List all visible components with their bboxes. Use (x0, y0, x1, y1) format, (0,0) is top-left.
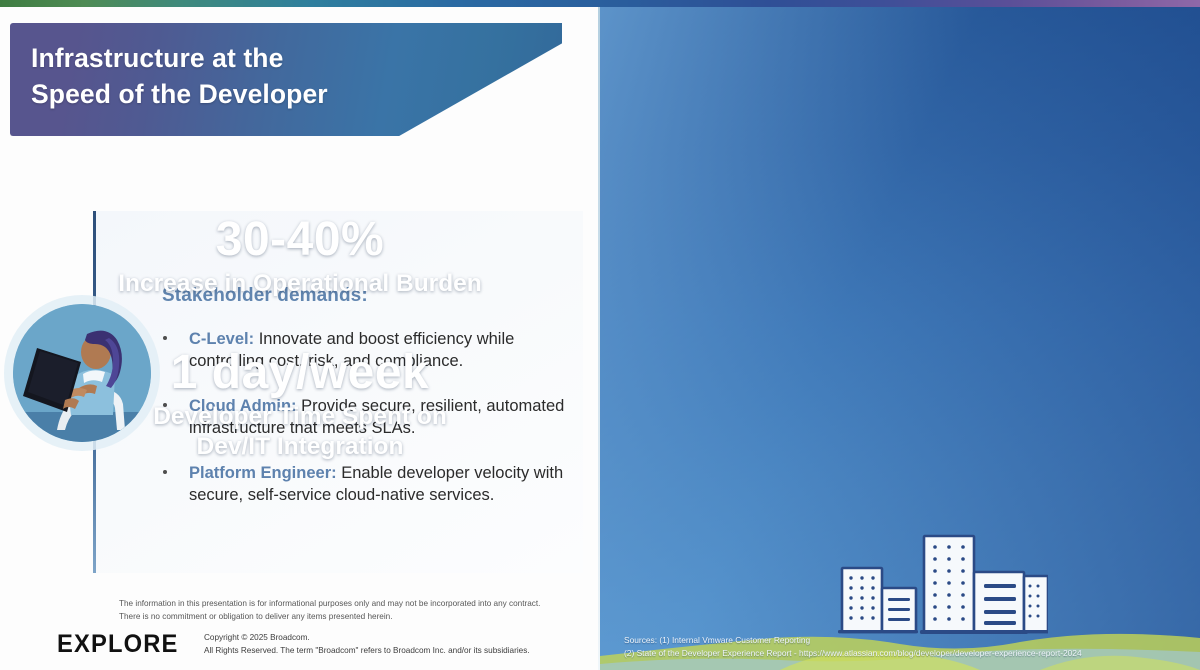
stat-operational-burden: 30-40% Increase in Operational Burden (0, 215, 600, 299)
top-gradient-strip (0, 0, 1200, 7)
bullet-dot-icon (163, 336, 167, 340)
stat-developer-time: 1 day/week Developer Time Spent on Dev/I… (0, 348, 600, 461)
bullet-role-label: Platform Engineer: (189, 464, 337, 482)
stat-label-line-2: Dev/IT Integration (197, 433, 404, 460)
presentation-slide: Infrastructure at the Speed of the Devel… (0, 0, 1200, 670)
sources-line-2: (2) State of the Developer Experience Re… (624, 648, 1082, 658)
page-title: Infrastructure at the Speed of the Devel… (31, 40, 451, 112)
title-line-1: Infrastructure at the (31, 43, 283, 73)
stat-label: Developer Time Spent on Dev/IT Integrati… (0, 402, 600, 461)
left-slide-panel: Infrastructure at the Speed of the Devel… (0, 6, 600, 670)
stat-label: Increase in Operational Burden (0, 269, 600, 298)
stat-value: 1 day/week (0, 348, 600, 398)
copyright-line-1: Copyright © 2025 Broadcom. (204, 633, 310, 642)
stat-value: 30-40% (0, 215, 600, 265)
legal-disclaimer: The information in this presentation is … (119, 598, 551, 623)
city-buildings-icon (818, 528, 1048, 645)
copyright-notice: Copyright © 2025 Broadcom. All Rights Re… (204, 632, 584, 657)
explore-logo: EXPLORE (57, 630, 178, 659)
sources-line-1: Sources: (1) Internal Vmware Customer Re… (624, 635, 810, 645)
sources-citation: Sources: (1) Internal Vmware Customer Re… (624, 634, 1196, 659)
copyright-line-2: All Rights Reserved. The term "Broadcom"… (204, 646, 530, 655)
list-item: Platform Engineer: Enable developer velo… (159, 462, 579, 507)
bullet-dot-icon (163, 470, 167, 474)
title-line-2: Speed of the Developer (31, 79, 328, 109)
stat-label-line-1: Developer Time Spent on (153, 403, 447, 430)
